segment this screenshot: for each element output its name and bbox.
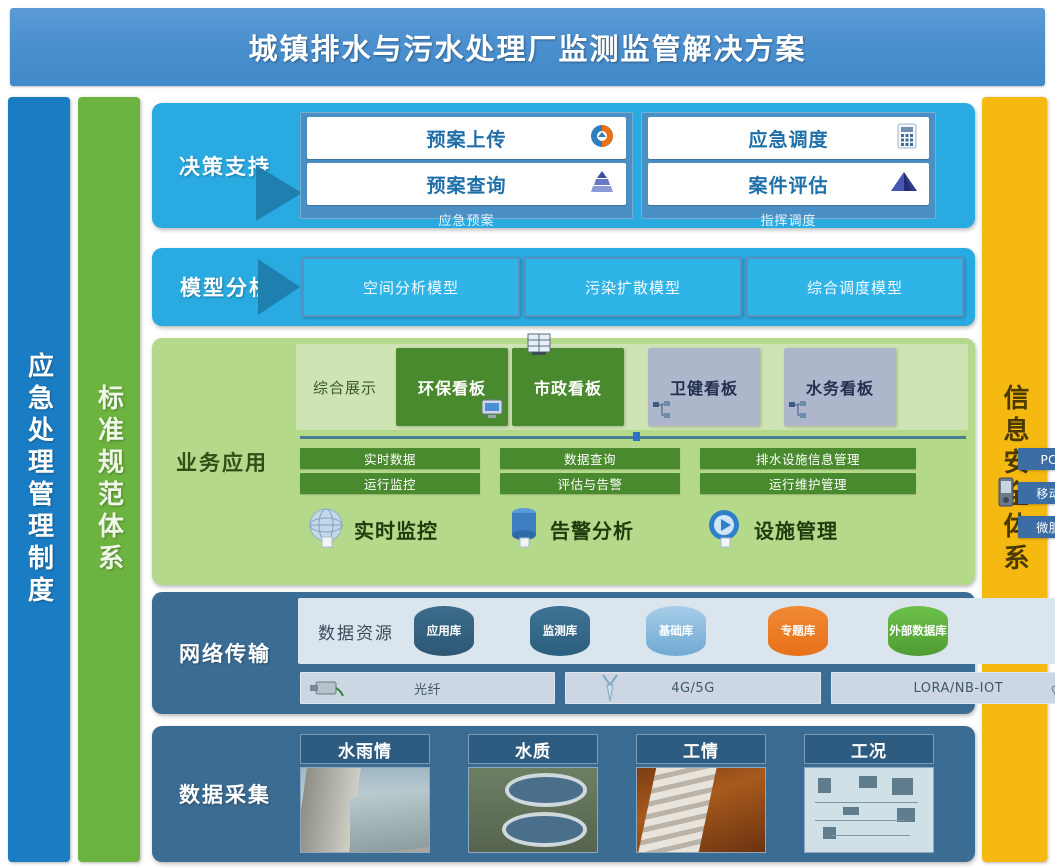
- decision-group-command-dispatch-label: 指挥调度: [648, 209, 929, 229]
- pillar-standards-system: 标准规范体系: [78, 97, 140, 862]
- section-data-collection: 数据采集 水雨情 水质 工情 工况: [152, 726, 975, 862]
- section-network-transmission: 网络传输 数据资源 应用库 监测库 基础库 专题库 外部数据库 光纤: [152, 592, 975, 714]
- sedimentation-tanks-photo: [468, 767, 598, 853]
- pill-operation-monitoring[interactable]: 运行监控: [300, 473, 480, 494]
- globe-icon: [304, 505, 348, 553]
- section-data-collection-label: 数据采集: [152, 726, 298, 862]
- client-pc-label: PC端: [1040, 451, 1055, 468]
- model-box-dispatch[interactable]: 综合调度模型: [746, 257, 964, 317]
- data-card-engineering-label: 工情: [683, 737, 719, 762]
- scada-diagram-photo: [804, 767, 934, 853]
- button-plan-query-label: 预案查询: [426, 171, 506, 198]
- comprehensive-display-panel: 综合展示 环保看板 市政看板 卫健看板 水务看板: [296, 344, 968, 430]
- link-lora-label: LORA/NB-IOT: [914, 681, 1004, 696]
- decision-group-command-dispatch: 应急调度 案件评估: [641, 112, 936, 219]
- pill-data-query-label: 数据查询: [564, 449, 616, 468]
- client-microservice-label: 微服务: [1036, 519, 1055, 536]
- section-network-transmission-label: 网络传输: [152, 592, 298, 714]
- feature-facility-management-label: 设施管理: [754, 515, 838, 544]
- pill-evaluation-alarm[interactable]: 评估与告警: [500, 473, 680, 494]
- button-plan-upload-label: 预案上传: [426, 125, 506, 152]
- database-icon: [504, 505, 544, 553]
- pillar-emergency-management: 应急处理管理制度: [8, 97, 70, 862]
- feature-facility-management[interactable]: 设施管理: [700, 501, 916, 557]
- link-fiber[interactable]: 光纤: [300, 672, 555, 704]
- data-card-operating-condition-cap: 工况: [804, 734, 934, 764]
- button-emergency-dispatch-label: 应急调度: [748, 125, 828, 152]
- model-box-dispatch-label: 综合调度模型: [807, 277, 903, 298]
- link-cellular[interactable]: 4G/5G: [565, 672, 820, 704]
- link-fiber-label: 光纤: [414, 679, 441, 698]
- section-business-application: 业务应用 综合展示 环保看板 市政看板 卫健看板 水务看板: [152, 338, 975, 585]
- pillar-standards-system-label: 标准规范体系: [91, 384, 128, 576]
- data-card-hydrology-cap: 水雨情: [300, 734, 430, 764]
- database-monitoring-label: 监测库: [530, 624, 590, 637]
- section-decision-support: 决策支持 预案上传 预案查询 应: [152, 103, 975, 228]
- model-box-spatial-label: 空间分析模型: [363, 277, 459, 298]
- button-emergency-dispatch[interactable]: 应急调度: [648, 117, 929, 159]
- node-icon: [652, 400, 672, 424]
- river-channel-photo: [300, 767, 430, 853]
- upload-globe-icon: [588, 122, 616, 154]
- database-thematic-label: 专题库: [768, 624, 828, 637]
- database-foundation-label: 基础库: [646, 624, 706, 637]
- data-card-hydrology[interactable]: 水雨情: [300, 734, 430, 854]
- monitor-icon: [480, 398, 504, 424]
- page-title-bar: 城镇排水与污水处理厂监测监管解决方案: [10, 8, 1045, 86]
- page-title: 城镇排水与污水处理厂监测监管解决方案: [248, 26, 806, 68]
- feature-alarm-analysis[interactable]: 告警分析: [500, 501, 680, 557]
- data-resources-label: 数据资源: [306, 598, 406, 664]
- antenna-tower-icon: [599, 673, 621, 707]
- board-municipal[interactable]: 市政看板: [512, 348, 624, 426]
- business-divider: [300, 436, 966, 439]
- database-thematic[interactable]: 专题库: [768, 606, 828, 656]
- feature-alarm-analysis-label: 告警分析: [550, 515, 634, 544]
- board-water[interactable]: 水务看板: [784, 348, 896, 426]
- pill-maintenance-management[interactable]: 运行维护管理: [700, 473, 916, 494]
- data-card-operating-condition[interactable]: 工况: [804, 734, 934, 854]
- client-microservice[interactable]: 微服务: [1018, 516, 1055, 538]
- pill-evaluation-alarm-label: 评估与告警: [557, 474, 622, 493]
- data-card-water-quality-cap: 水质: [468, 734, 598, 764]
- play-circle-icon: [704, 505, 748, 553]
- model-arrow-icon: [258, 259, 300, 315]
- mobile-phone-icon: [996, 477, 1016, 511]
- pipeline-trench-photo: [636, 767, 766, 853]
- comprehensive-display-label: 综合展示: [302, 344, 388, 430]
- button-case-evaluation[interactable]: 案件评估: [648, 163, 929, 205]
- pill-realtime-data[interactable]: 实时数据: [300, 448, 480, 469]
- model-box-pollution[interactable]: 污染扩散模型: [524, 257, 742, 317]
- fiber-connector-icon: [308, 676, 344, 704]
- data-resources-panel: 数据资源 应用库 监测库 基础库 专题库 外部数据库: [298, 598, 1055, 664]
- button-plan-upload[interactable]: 预案上传: [307, 117, 626, 159]
- pill-maintenance-management-label: 运行维护管理: [769, 474, 847, 493]
- pill-data-query[interactable]: 数据查询: [500, 448, 680, 469]
- business-column-alarm: 数据查询 评估与告警 告警分析: [500, 448, 680, 557]
- feature-realtime-monitoring-label: 实时监控: [354, 515, 438, 544]
- network-links: 光纤 4G/5G LORA/NB-IOT: [298, 668, 1055, 708]
- rf-module-icon: [1046, 674, 1055, 704]
- client-mobile-label: 移动端: [1036, 485, 1055, 502]
- button-case-evaluation-label: 案件评估: [748, 171, 828, 198]
- database-monitoring[interactable]: 监测库: [530, 606, 590, 656]
- data-card-water-quality[interactable]: 水质: [468, 734, 598, 854]
- pill-realtime-data-label: 实时数据: [364, 449, 416, 468]
- database-external[interactable]: 外部数据库: [888, 606, 948, 656]
- pyramid-dark-icon: [889, 169, 919, 199]
- database-application-label: 应用库: [414, 624, 474, 637]
- decision-arrow-icon: [256, 165, 302, 221]
- business-column-monitoring: 实时数据 运行监控 实时监控: [300, 448, 480, 557]
- window-icon: [526, 332, 552, 362]
- data-card-engineering[interactable]: 工情: [636, 734, 766, 854]
- board-water-label: 水务看板: [806, 375, 874, 399]
- database-foundation[interactable]: 基础库: [646, 606, 706, 656]
- model-box-pollution-label: 污染扩散模型: [585, 277, 681, 298]
- board-environment-label: 环保看板: [418, 375, 486, 399]
- link-cellular-label: 4G/5G: [671, 681, 715, 696]
- pillar-emergency-management-label: 应急处理管理制度: [21, 352, 58, 608]
- client-pc[interactable]: PC端: [1018, 448, 1055, 470]
- pyramid-chart-icon: [588, 169, 616, 199]
- calculator-icon: [895, 122, 919, 154]
- pill-operation-monitoring-label: 运行监控: [364, 474, 416, 493]
- database-external-label: 外部数据库: [888, 624, 948, 637]
- link-lora[interactable]: LORA/NB-IOT: [831, 672, 1055, 704]
- board-health[interactable]: 卫健看板: [648, 348, 760, 426]
- board-municipal-label: 市政看板: [534, 375, 602, 399]
- pill-drainage-facility-info-label: 排水设施信息管理: [756, 449, 860, 468]
- divider-marker: [633, 432, 640, 441]
- data-card-operating-condition-label: 工况: [851, 737, 887, 762]
- node-icon: [788, 400, 808, 424]
- client-endpoints: PC端 移动端 微服务: [1018, 448, 1055, 550]
- decision-group-emergency-plan-label: 应急预案: [307, 209, 626, 229]
- section-business-application-label: 业务应用: [152, 338, 292, 585]
- data-card-hydrology-label: 水雨情: [338, 737, 392, 762]
- client-mobile[interactable]: 移动端: [1018, 482, 1055, 504]
- model-box-spatial[interactable]: 空间分析模型: [302, 257, 520, 317]
- business-column-facility: 排水设施信息管理 运行维护管理 设施管理: [700, 448, 916, 557]
- database-application[interactable]: 应用库: [414, 606, 474, 656]
- decision-group-emergency-plan: 预案上传 预案查询 应急预案: [300, 112, 633, 219]
- board-health-label: 卫健看板: [670, 375, 738, 399]
- pill-drainage-facility-info[interactable]: 排水设施信息管理: [700, 448, 916, 469]
- feature-realtime-monitoring[interactable]: 实时监控: [300, 501, 480, 557]
- section-model-analysis: 模型分析 空间分析模型 污染扩散模型 综合调度模型: [152, 248, 975, 326]
- data-card-water-quality-label: 水质: [515, 737, 551, 762]
- board-environment[interactable]: 环保看板: [396, 348, 508, 426]
- button-plan-query[interactable]: 预案查询: [307, 163, 626, 205]
- data-card-engineering-cap: 工情: [636, 734, 766, 764]
